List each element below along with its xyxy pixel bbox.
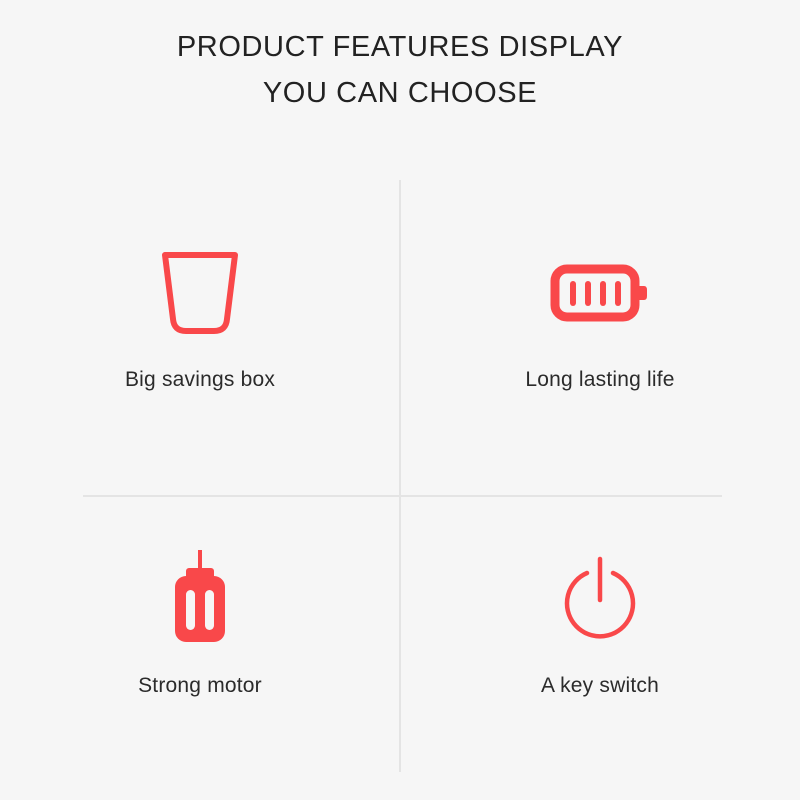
feature-item-big-savings-box[interactable]: Big savings box xyxy=(0,180,400,480)
product-features-panel: PRODUCT FEATURES DISPLAY YOU CAN CHOOSE … xyxy=(0,0,800,800)
cup-icon xyxy=(140,238,260,348)
feature-label: A key switch xyxy=(541,672,659,700)
feature-label: Strong motor xyxy=(138,672,262,700)
motor-icon-svg xyxy=(165,550,235,645)
feature-label: Big savings box xyxy=(125,366,275,394)
power-switch-icon xyxy=(540,542,660,652)
title-line-2: YOU CAN CHOOSE xyxy=(0,70,800,116)
power-switch-icon-svg xyxy=(560,551,640,643)
battery-icon-svg xyxy=(550,257,650,329)
battery-icon xyxy=(540,238,660,348)
feature-grid: Big savings box Long lasting life xyxy=(0,180,800,780)
motor-icon xyxy=(140,542,260,652)
title-line-1: PRODUCT FEATURES DISPLAY xyxy=(0,24,800,70)
page-title: PRODUCT FEATURES DISPLAY YOU CAN CHOOSE xyxy=(0,24,800,116)
feature-item-long-lasting-life[interactable]: Long lasting life xyxy=(400,180,800,480)
feature-label: Long lasting life xyxy=(525,366,674,394)
feature-item-a-key-switch[interactable]: A key switch xyxy=(400,480,800,780)
cup-icon-svg xyxy=(155,247,245,339)
feature-item-strong-motor[interactable]: Strong motor xyxy=(0,480,400,780)
